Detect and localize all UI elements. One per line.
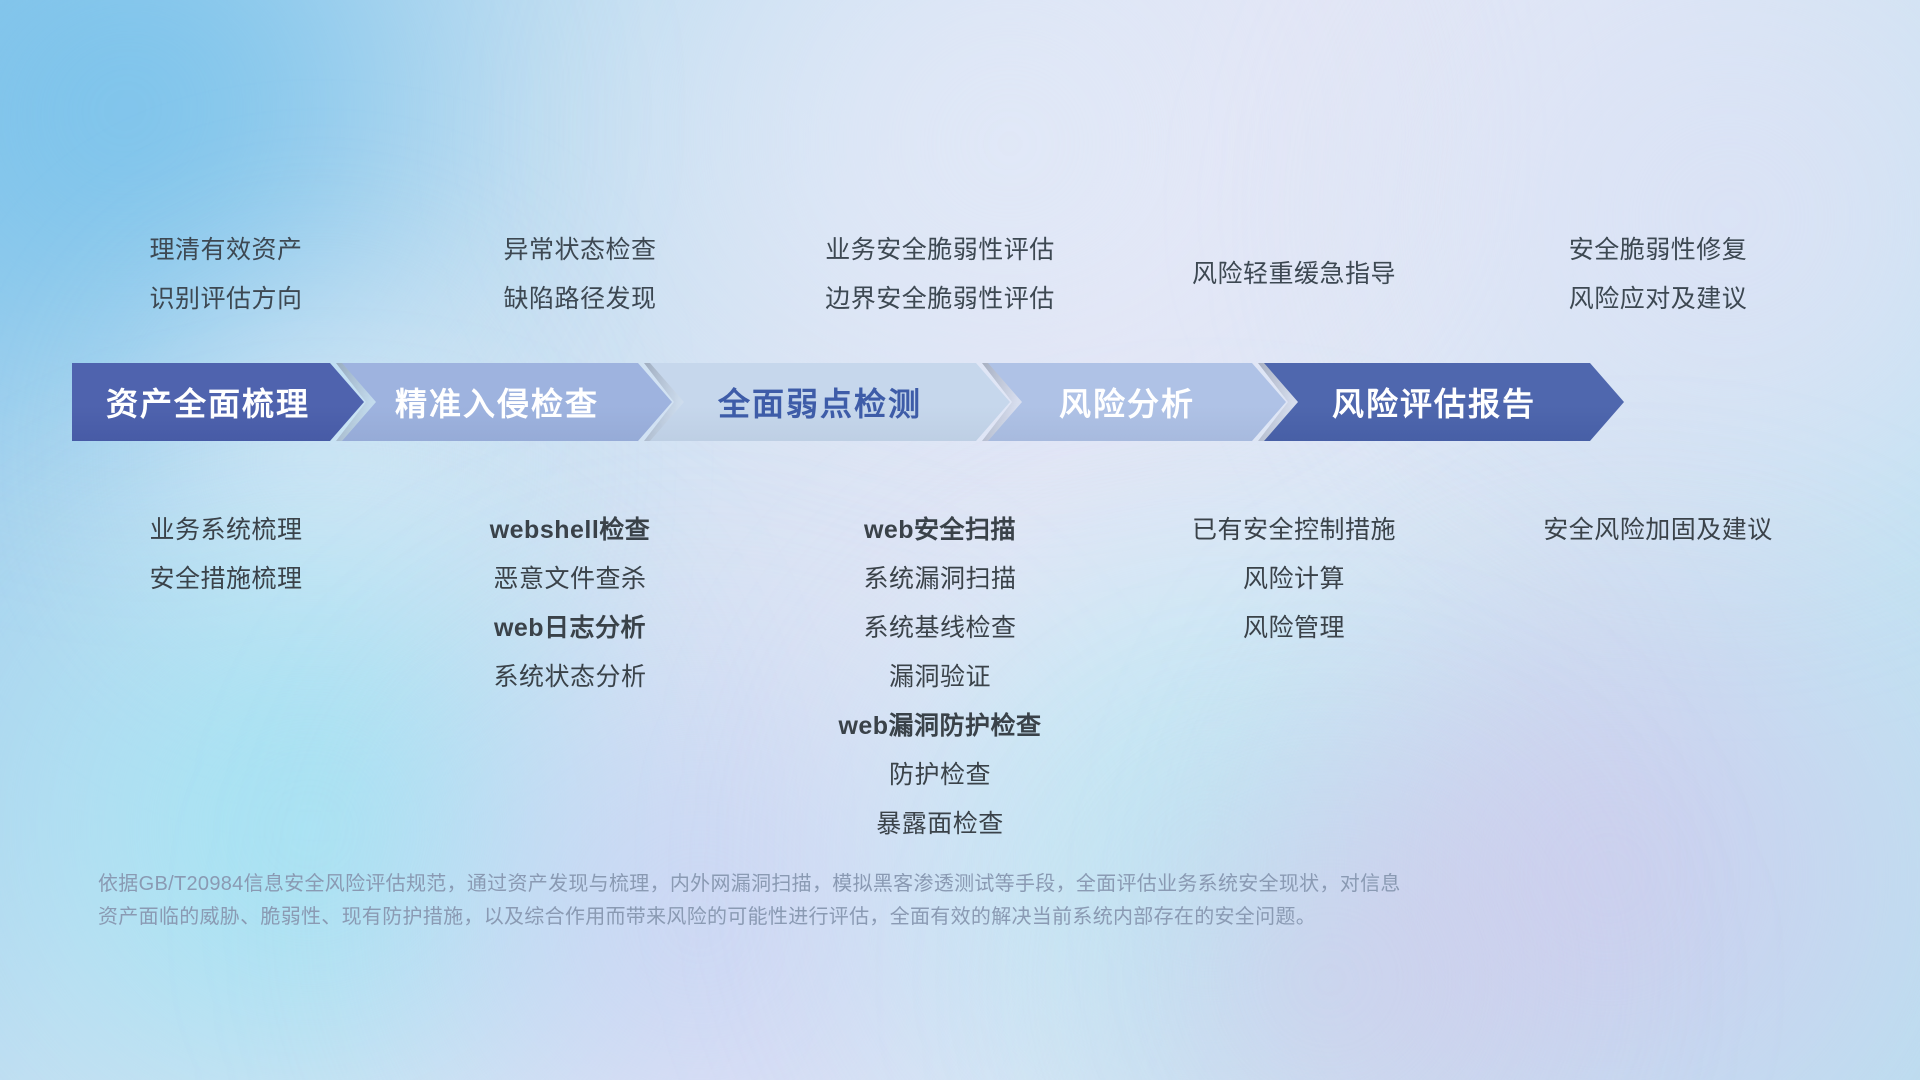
stage-label-assessment-report: 风险评估报告 xyxy=(1264,379,1624,425)
stage-label-weakness-detection: 全面弱点检测 xyxy=(650,379,1010,425)
top-description-line: 风险应对及建议 xyxy=(1428,275,1888,324)
bottom-list-item: web漏洞防护检查 xyxy=(710,702,1170,751)
footer-line-1: 依据GB/T20984信息安全风险评估规范，通过资产发现与梳理，内外网漏洞扫描，… xyxy=(98,868,1618,901)
footer-line-2: 资产面临的威胁、脆弱性、现有防护措施，以及综合作用而带来风险的可能性进行评估，全… xyxy=(98,901,1618,934)
bottom-list-item: 风险计算 xyxy=(1064,555,1524,604)
process-diagram: 理清有效资产识别评估方向异常状态检查缺陷路径发现业务安全脆弱性评估边界安全脆弱性… xyxy=(0,0,1920,1080)
stage-label-asset-inventory: 资产全面梳理 xyxy=(72,379,364,425)
stage-label-intrusion-check: 精准入侵检查 xyxy=(342,379,672,425)
stage-chevron-weakness-detection[interactable]: 全面弱点检测 xyxy=(650,363,1010,441)
bottom-list-assessment-report: 安全风险加固及建议 xyxy=(1428,506,1888,555)
top-description-assessment-report: 安全脆弱性修复风险应对及建议 xyxy=(1428,226,1888,324)
stage-chevron-risk-analysis[interactable]: 风险分析 xyxy=(988,363,1286,441)
footer-description: 依据GB/T20984信息安全风险评估规范，通过资产发现与梳理，内外网漏洞扫描，… xyxy=(98,868,1618,934)
bottom-list-item: 暴露面检查 xyxy=(710,800,1170,849)
top-description-line: 安全脆弱性修复 xyxy=(1428,226,1888,275)
bottom-list-item: 风险管理 xyxy=(1064,604,1524,653)
stage-chevron-asset-inventory[interactable]: 资产全面梳理 xyxy=(72,363,364,441)
stage-chevron-intrusion-check[interactable]: 精准入侵检查 xyxy=(342,363,672,441)
stage-label-risk-analysis: 风险分析 xyxy=(988,379,1286,425)
stage-chevron-assessment-report[interactable]: 风险评估报告 xyxy=(1264,363,1624,441)
process-arrow-banner: 资产全面梳理精准入侵检查全面弱点检测风险分析风险评估报告 xyxy=(72,363,1848,441)
bottom-list-item: 漏洞验证 xyxy=(710,653,1170,702)
bottom-list-item: 安全风险加固及建议 xyxy=(1428,506,1888,555)
bottom-list-item: 防护检查 xyxy=(710,751,1170,800)
